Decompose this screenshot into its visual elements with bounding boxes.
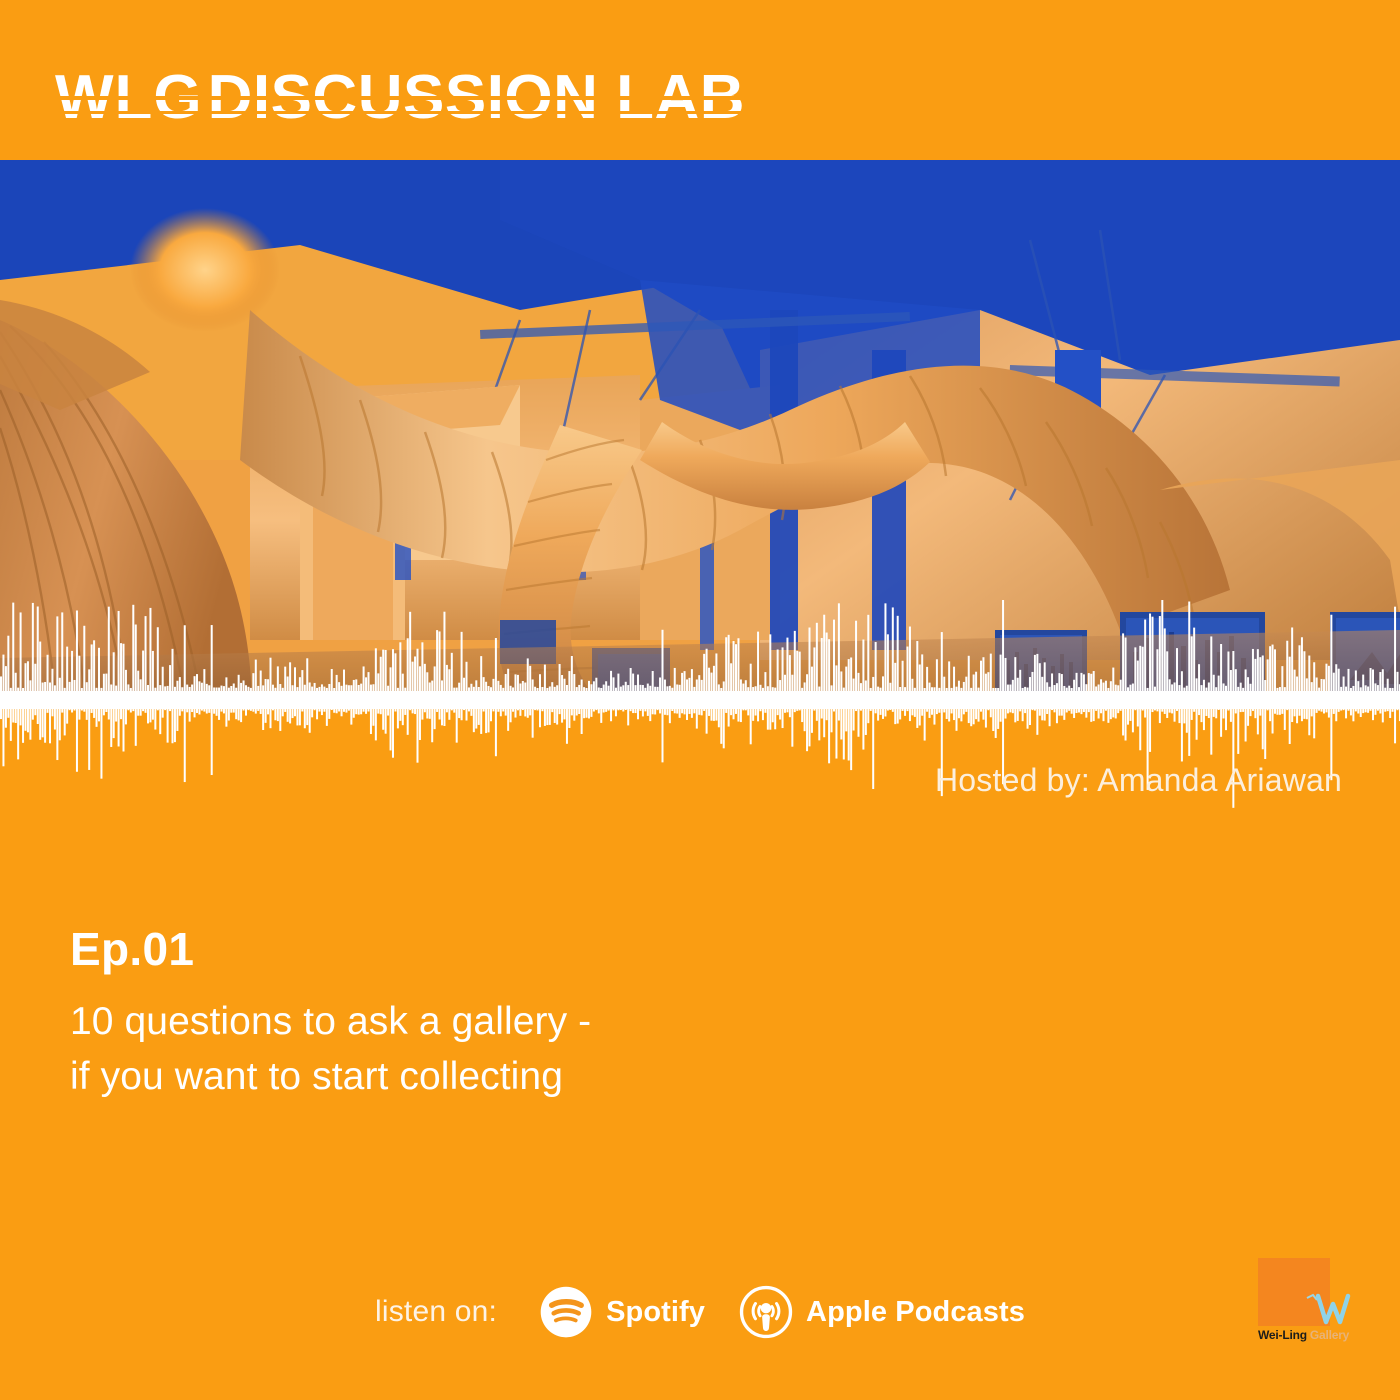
episode-number: Ep.01 (70, 922, 591, 976)
spotify-label: Spotify (606, 1296, 705, 1329)
spotify-icon (539, 1285, 593, 1339)
episode-block: Ep.01 10 questions to ask a gallery - if… (70, 922, 591, 1105)
stencil-notch (55, 96, 203, 100)
stencil-notch (55, 111, 203, 114)
w-mark-icon (1304, 1290, 1362, 1326)
episode-title-line-2: if you want to start collecting (70, 1049, 591, 1104)
apple-podcasts-icon (739, 1285, 793, 1339)
logo-name-dark: Wei-Ling (1258, 1328, 1307, 1342)
apple-podcasts-link[interactable]: Apple Podcasts (739, 1285, 1025, 1339)
wei-ling-gallery-logo: Wei-LingGallery (1258, 1258, 1366, 1358)
page-title: WLG DISCUSSION LAB (55, 62, 745, 128)
logo-wordmark: Wei-LingGallery (1258, 1328, 1349, 1342)
logo-name-light: Gallery (1310, 1328, 1349, 1342)
apple-podcasts-label: Apple Podcasts (806, 1296, 1025, 1329)
host-credit: Hosted by: Amanda Ariawan (935, 762, 1342, 799)
stencil-notch (208, 96, 745, 100)
spotify-link[interactable]: Spotify (539, 1285, 705, 1339)
listen-on-label: listen on: (375, 1295, 497, 1329)
episode-title-line-1: 10 questions to ask a gallery - (70, 994, 591, 1049)
podcast-cover-art: WLG DISCUSSION LAB Hosted by: Amanda Ari… (0, 0, 1400, 1400)
hero-photo (0, 160, 1400, 702)
title-line-discussion-lab: DISCUSSION LAB (208, 68, 745, 128)
stencil-notch (208, 111, 745, 114)
listen-on-bar: listen on: Spotify (0, 1285, 1400, 1339)
title-line-wlg: WLG (55, 68, 203, 128)
episode-title: 10 questions to ask a gallery - if you w… (70, 994, 591, 1105)
